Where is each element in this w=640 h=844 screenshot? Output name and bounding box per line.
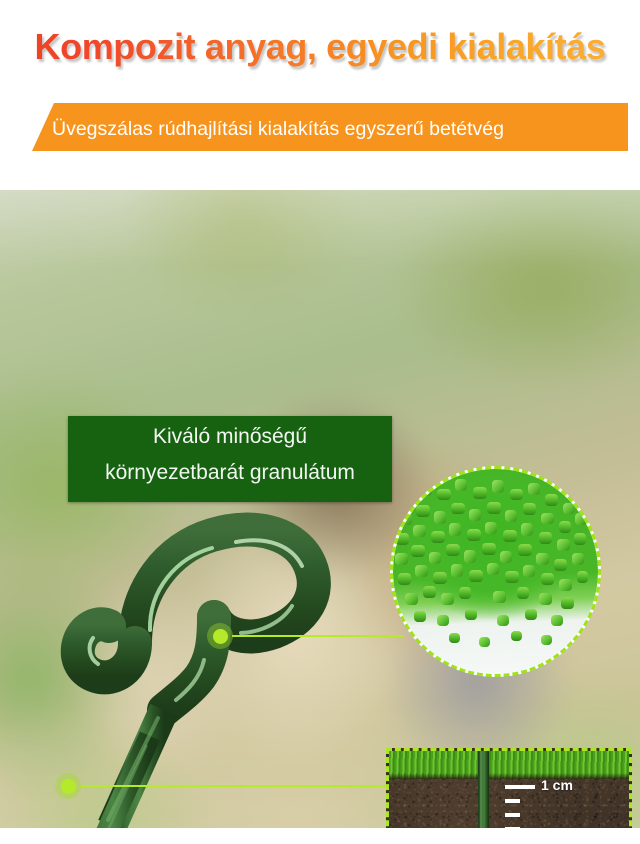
granulate-circle-inner (393, 469, 598, 674)
promo-image: Kompozit anyag, egyedi kialakítás Üvegsz… (0, 0, 640, 844)
page-title: Kompozit anyag, egyedi kialakítás (0, 26, 640, 68)
bottom-white-strip (0, 828, 640, 844)
ruler-label-1cm: 1 cm (541, 777, 573, 793)
ruler-tick-minor (505, 799, 520, 803)
callout-granulate-line1: Kiváló minőségű (68, 425, 392, 449)
header-section: Kompozit anyag, egyedi kialakítás Üvegsz… (0, 0, 640, 190)
soil-depth-panel: 1 cm 5 cm 10 cm 15 cm (386, 748, 632, 828)
callout-dot-granulate (207, 623, 233, 649)
leader-line-bottom (80, 785, 390, 787)
granulate-closeup-circle (390, 466, 601, 677)
ruler-tick-major (505, 785, 535, 789)
subtitle-text: Üvegszálas rúdhajlítási kialakítás egysz… (52, 112, 630, 146)
ruler-tick-minor (505, 813, 520, 817)
product-photo-area: Kiváló minőségű környezetbarát granulátu… (0, 190, 640, 828)
callout-granulate-line2: környezetbarát granulátum (68, 461, 392, 485)
callout-box-granulate: Kiváló minőségű környezetbarát granulátu… (68, 416, 392, 502)
depth-ruler: 1 cm 5 cm 10 cm 15 cm (389, 751, 629, 828)
callout-dot-bottom (55, 773, 81, 799)
leader-line-granulate (232, 635, 404, 637)
granulate-pellets (393, 469, 598, 674)
